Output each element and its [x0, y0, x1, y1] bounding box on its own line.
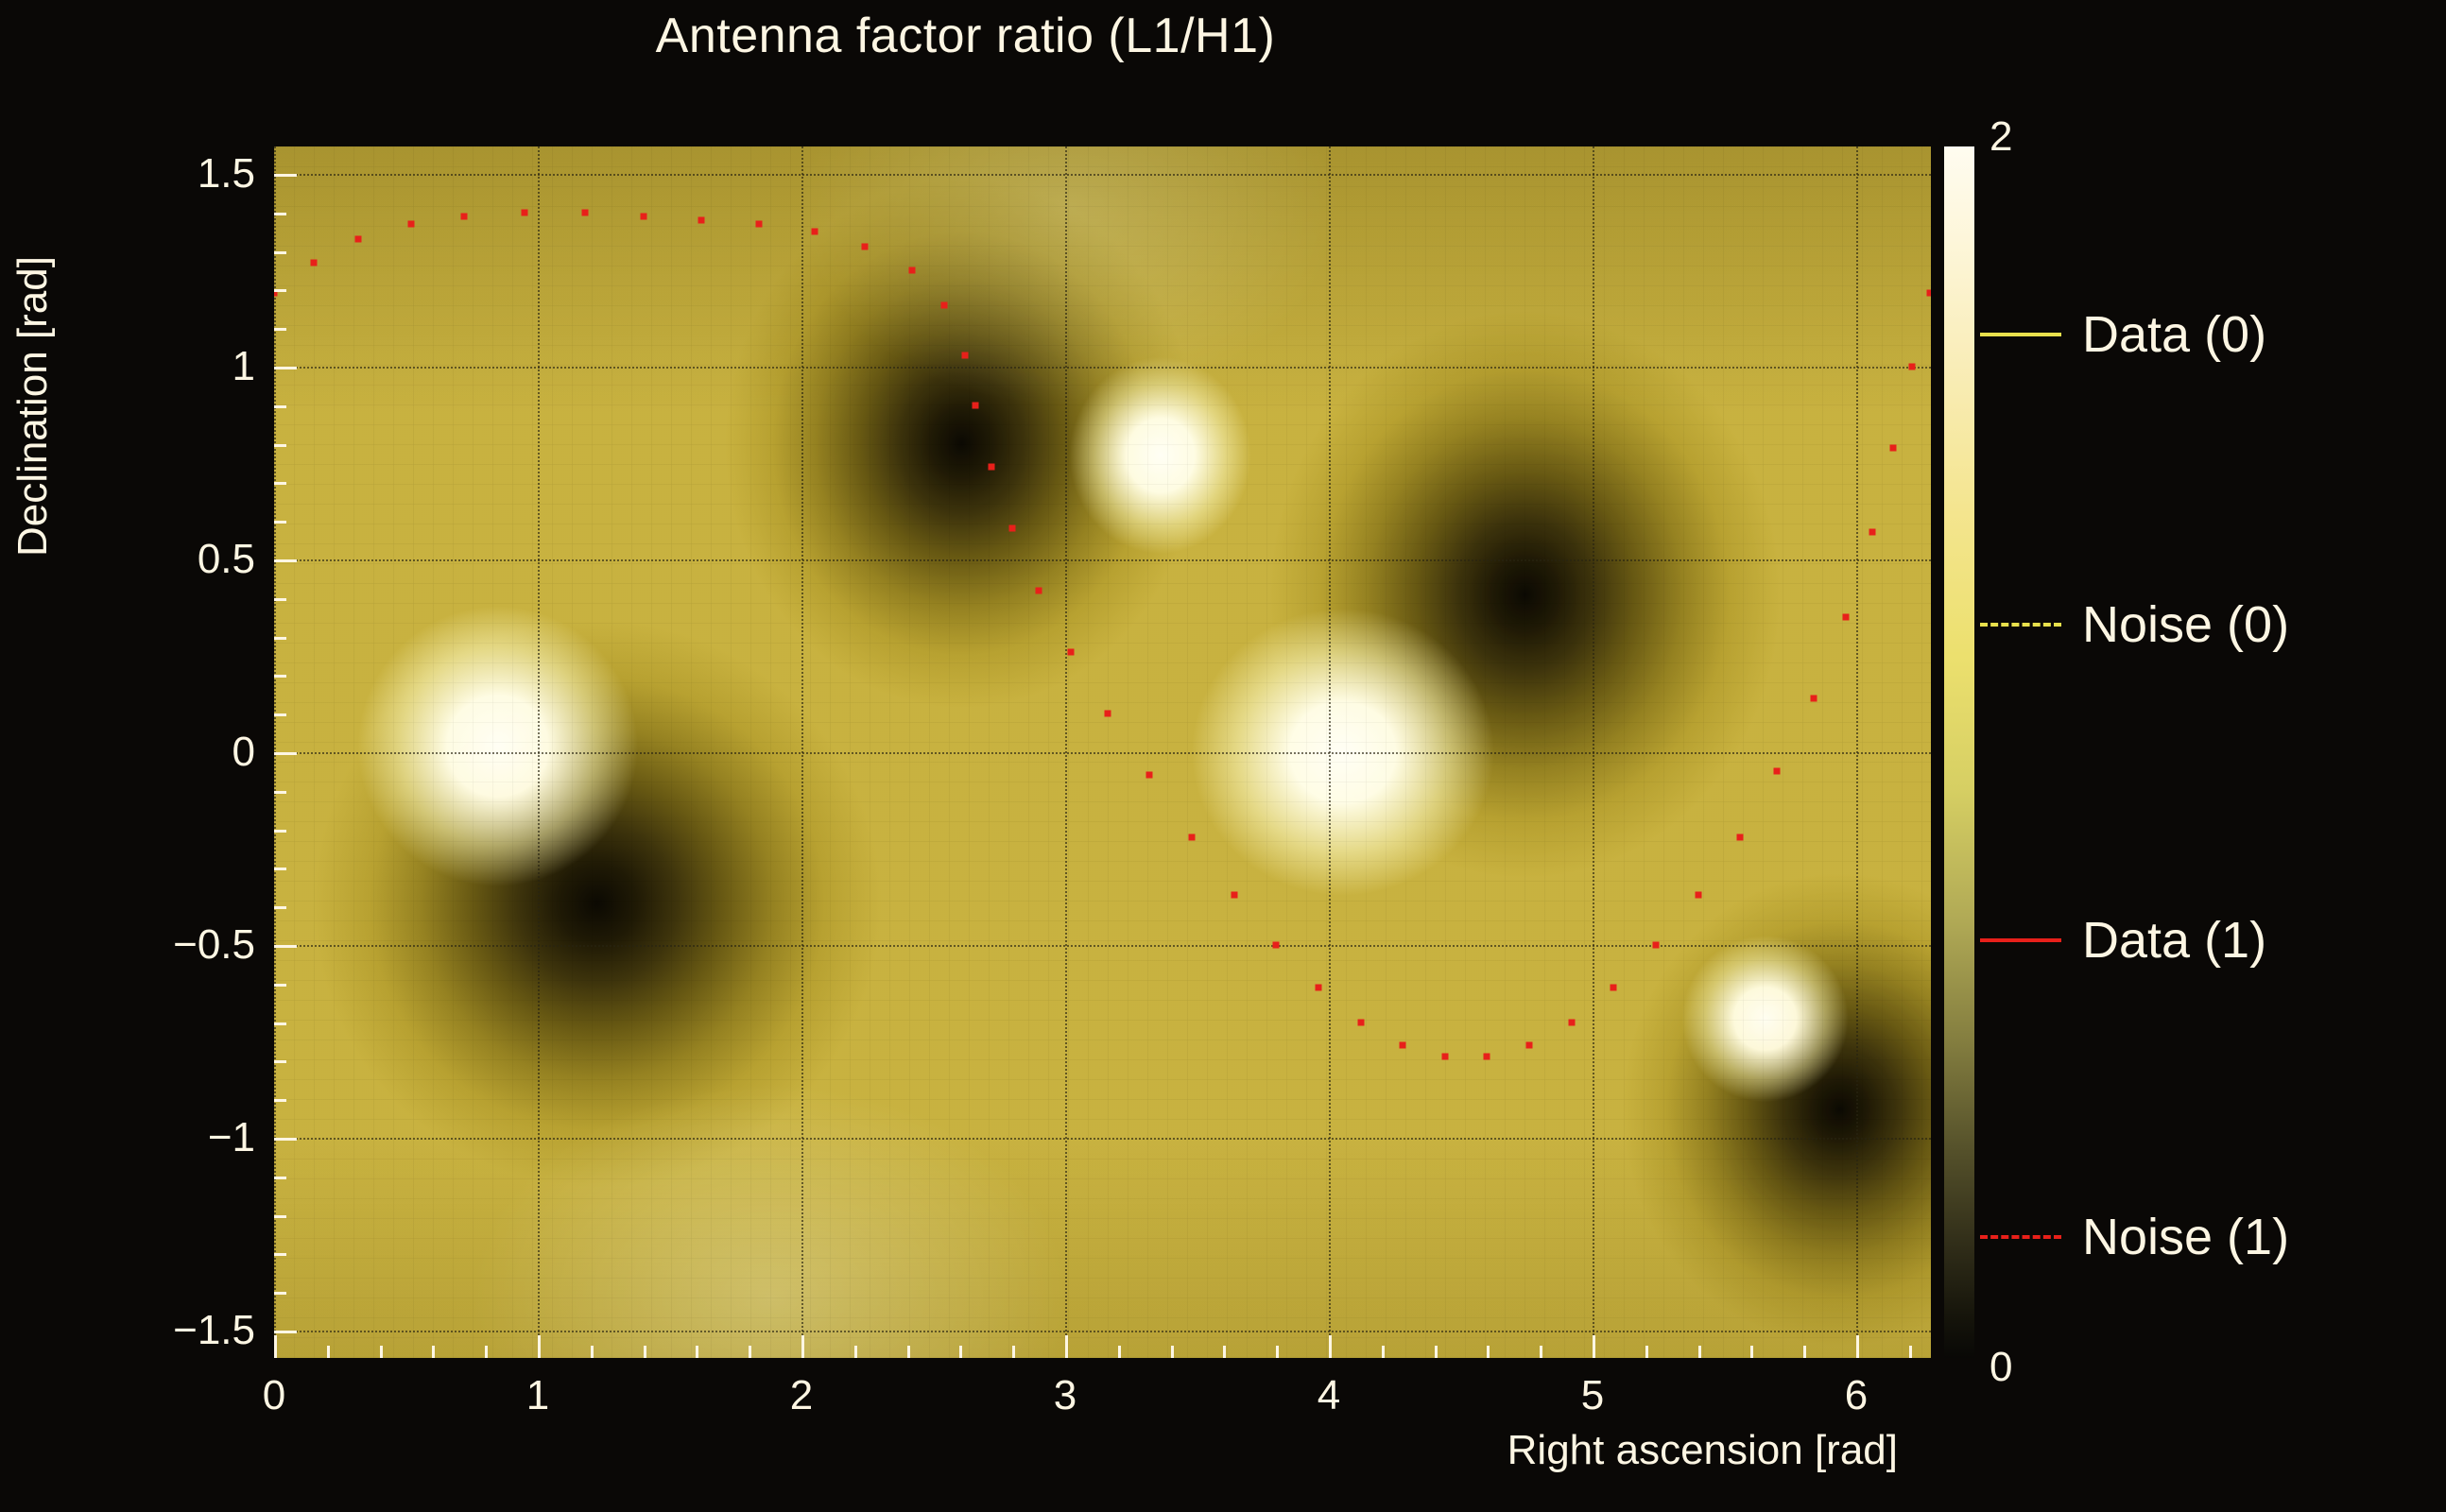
curve-point	[1737, 833, 1744, 840]
x-tick-minor	[1909, 1346, 1912, 1358]
x-tick-label: 1	[526, 1372, 549, 1419]
x-tick-minor	[1540, 1346, 1542, 1358]
grid-line-horizontal	[274, 1138, 1931, 1140]
legend-entry[interactable]: Noise (1)	[1980, 1204, 2446, 1270]
x-tick-major	[1856, 1335, 1859, 1358]
y-tick-minor	[274, 213, 286, 215]
curve-point	[1652, 942, 1659, 949]
x-tick-major	[801, 1335, 804, 1358]
x-tick-minor	[1487, 1346, 1490, 1358]
curve-point	[698, 216, 704, 223]
x-tick-minor	[1012, 1346, 1015, 1358]
curve-point	[988, 464, 994, 471]
curve-point	[1611, 984, 1617, 990]
curve-point	[1927, 290, 1931, 297]
y-tick-minor	[274, 482, 286, 485]
x-tick-minor	[854, 1346, 857, 1358]
curve-point	[1811, 695, 1817, 701]
y-tick-minor	[274, 791, 286, 794]
y-tick-minor	[274, 521, 286, 524]
y-tick-major	[274, 1331, 297, 1333]
y-tick-minor	[274, 830, 286, 833]
curve-point	[1146, 772, 1153, 779]
grid-line-horizontal	[274, 752, 1931, 754]
grid-line-horizontal	[274, 559, 1931, 561]
x-tick-minor	[959, 1346, 962, 1358]
curve-point	[1484, 1054, 1490, 1060]
grid-line-horizontal	[274, 945, 1931, 947]
y-tick-minor	[274, 1292, 286, 1295]
curve-point	[640, 213, 646, 219]
curve-point	[1568, 1019, 1575, 1025]
legend-entry[interactable]: Noise (0)	[1980, 592, 2446, 658]
legend-label: Noise (0)	[2082, 595, 2289, 654]
curve-point	[355, 236, 362, 243]
curve-point	[1869, 529, 1875, 536]
legend-label: Data (0)	[2082, 305, 2266, 364]
x-tick-major	[538, 1335, 541, 1358]
x-tick-minor	[485, 1346, 488, 1358]
y-axis-title: Declination [rad]	[0, 146, 66, 1358]
y-tick-minor	[274, 598, 286, 601]
y-tick-minor	[274, 1060, 286, 1063]
y-tick-minor	[274, 1138, 286, 1141]
x-tick-label: 0	[263, 1372, 285, 1419]
x-tick-label: 6	[1845, 1372, 1868, 1419]
legend-label: Data (1)	[2082, 911, 2266, 970]
x-tick-minor	[327, 1346, 330, 1358]
curve-point	[310, 259, 317, 266]
x-tick-label: 4	[1318, 1372, 1340, 1419]
curve-point	[1104, 711, 1111, 717]
curve-point	[961, 352, 968, 358]
x-tick-major	[274, 1335, 277, 1358]
x-tick-minor	[1382, 1346, 1385, 1358]
legend-line-marker-dotted	[1980, 1235, 2061, 1239]
x-tick-minor	[1276, 1346, 1279, 1358]
curve-point	[940, 301, 947, 308]
curve-point	[1695, 891, 1701, 898]
colorbar-gradient[interactable]	[1944, 146, 1974, 1358]
curve-point	[460, 213, 467, 219]
y-tick-minor	[274, 444, 286, 447]
curve-point	[1774, 768, 1781, 775]
y-tick-minor	[274, 251, 286, 254]
y-tick-major	[274, 174, 297, 177]
y-tick-minor	[274, 1099, 286, 1102]
curve-point	[811, 229, 818, 235]
y-tick-minor	[274, 1215, 286, 1218]
curve-point	[1009, 525, 1016, 532]
curve-point	[1842, 614, 1849, 621]
y-tick-minor	[274, 289, 286, 292]
x-tick-minor	[1223, 1346, 1226, 1358]
curve-point	[1067, 648, 1074, 655]
legend-label: Noise (1)	[2082, 1208, 2289, 1266]
curve-point	[756, 220, 763, 227]
curve-point	[408, 220, 415, 227]
x-tick-label: 2	[790, 1372, 813, 1419]
curve-point	[1273, 942, 1280, 949]
x-tick-major	[1593, 1335, 1595, 1358]
x-tick-minor	[1435, 1346, 1438, 1358]
x-tick-minor	[1803, 1346, 1806, 1358]
x-tick-minor	[1171, 1346, 1174, 1358]
curve-point	[522, 209, 528, 215]
y-tick-minor	[274, 984, 286, 987]
y-tick-major	[274, 752, 297, 755]
plot-canvas: Antenna factor ratio (L1/H1) 1.510.50−0.…	[0, 0, 2446, 1512]
curve-point	[1908, 363, 1915, 369]
page-title: Antenna factor ratio (L1/H1)	[0, 8, 1931, 64]
y-tick-minor	[274, 405, 286, 408]
curve-point	[1315, 984, 1321, 990]
y-tick-minor	[274, 328, 286, 331]
x-tick-minor	[1750, 1346, 1753, 1358]
x-tick-label: 3	[1054, 1372, 1077, 1419]
curve-point	[909, 266, 916, 273]
x-tick-minor	[1698, 1346, 1701, 1358]
curve-point	[1441, 1054, 1448, 1060]
curve-point	[1890, 444, 1897, 451]
legend: Data (0)Noise (0)Data (1)Noise (1)	[1980, 146, 2446, 1358]
curve-point	[861, 244, 868, 250]
y-tick-major	[274, 367, 297, 369]
y-tick-minor	[274, 637, 286, 640]
y-tick-minor	[274, 1022, 286, 1025]
x-tick-minor	[749, 1346, 751, 1358]
curve-point	[582, 209, 589, 215]
y-axis-title-text: Declination [rad]	[9, 256, 57, 557]
y-tick-major	[274, 559, 297, 562]
x-tick-minor	[696, 1346, 698, 1358]
x-tick-major	[1065, 1335, 1068, 1358]
x-tick-minor	[432, 1346, 435, 1358]
legend-line-marker-solid	[1980, 333, 2061, 336]
curve-point	[1188, 833, 1195, 840]
grid-line-horizontal	[274, 367, 1931, 369]
curve-point	[1231, 891, 1237, 898]
x-tick-label: 5	[1581, 1372, 1604, 1419]
curve-point	[1036, 587, 1042, 593]
x-tick-minor	[644, 1346, 646, 1358]
x-axis-title: Right ascension [rad]	[0, 1427, 1931, 1474]
grid-line-horizontal	[274, 174, 1931, 176]
legend-entry[interactable]: Data (1)	[1980, 907, 2446, 973]
x-tick-major	[1329, 1335, 1332, 1358]
y-tick-minor	[274, 868, 286, 870]
x-tick-minor	[1645, 1346, 1648, 1358]
y-tick-minor	[274, 906, 286, 909]
y-tick-minor	[274, 675, 286, 678]
y-tick-minor	[274, 1177, 286, 1179]
heatmap-plot-area[interactable]	[274, 146, 1931, 1358]
curve-point	[1400, 1042, 1406, 1049]
x-tick-minor	[380, 1346, 383, 1358]
y-tick-minor	[274, 1253, 286, 1256]
curve-point	[1526, 1042, 1533, 1049]
legend-entry[interactable]: Data (0)	[1980, 301, 2446, 368]
legend-line-marker-dotted	[1980, 623, 2061, 627]
y-tick-minor	[274, 713, 286, 716]
x-tick-minor	[907, 1346, 910, 1358]
legend-line-marker-solid	[1980, 938, 2061, 942]
x-tick-minor	[1118, 1346, 1121, 1358]
curve-point	[1357, 1019, 1364, 1025]
y-tick-minor	[274, 945, 286, 948]
grid-line-horizontal	[274, 1331, 1931, 1332]
curve-point	[973, 402, 979, 408]
x-tick-minor	[591, 1346, 594, 1358]
